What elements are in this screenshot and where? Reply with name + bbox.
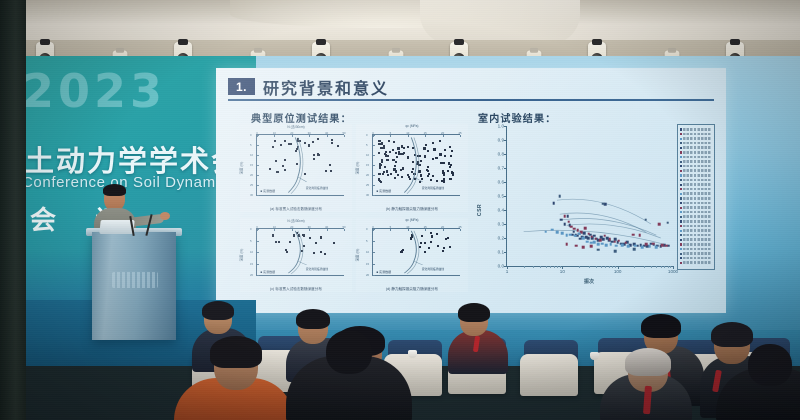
mini-chart-y-tick: 30: [366, 193, 369, 197]
csr-x-minor-tickmark: [524, 266, 525, 268]
mini-chart-x-tickmark: [344, 229, 345, 231]
csr-x-minor-tickmark: [670, 266, 671, 268]
mini-chart-y-axis-label: 深度 (m): [239, 162, 244, 175]
csr-y-tickmark: [504, 238, 507, 239]
csr-legend-label: [683, 234, 712, 237]
slide-title-rule: [228, 99, 714, 101]
csr-data-point: [563, 223, 566, 226]
csr-x-minor-tickmark: [596, 266, 597, 268]
csr-legend-label: [683, 257, 712, 260]
csr-x-minor-tickmark: [560, 266, 561, 268]
csr-data-point: [572, 230, 575, 233]
csr-legend-marker: [680, 225, 682, 227]
csr-x-minor-tickmark: [557, 266, 558, 268]
csr-legend-label: [683, 174, 712, 177]
csr-data-point: [601, 242, 604, 245]
mini-chart-legend: ■ 实测数据: [376, 189, 391, 193]
csr-legend-marker: [680, 170, 682, 172]
csr-data-point: [614, 250, 617, 253]
mini-chart-annotation: 液化判别临界曲线: [422, 186, 444, 190]
csr-legend-row: [680, 248, 713, 251]
csr-data-point: [608, 238, 611, 241]
csr-data-point: [629, 244, 632, 247]
mini-chart-y-tick: 15: [366, 163, 369, 167]
csr-legend-label: [683, 206, 712, 209]
audience-member-hair: [458, 303, 490, 322]
speaker-hair: [103, 184, 126, 196]
csr-legend-row: [680, 215, 713, 218]
csr-data-point: [594, 237, 597, 240]
csr-legend-row: [680, 211, 713, 214]
csr-legend-row: [680, 257, 713, 260]
csr-legend-row: [680, 128, 713, 131]
csr-legend-row: [680, 192, 713, 195]
mini-chart-y-tick: 20: [366, 273, 369, 277]
mini-chart-y-tick: 0: [366, 227, 368, 231]
csr-legend-marker: [680, 151, 682, 153]
projection-slide: 1. 研究背景和意义 典型原位测试结果： 室内试验结果： N (击/30cm)深…: [216, 68, 726, 313]
csr-data-point: [583, 232, 586, 235]
csr-legend-row: [680, 146, 713, 149]
csr-legend-marker: [680, 220, 682, 222]
mini-chart-y-tick: 5: [366, 143, 368, 147]
csr-data-point: [613, 240, 616, 243]
csr-data-point: [569, 233, 572, 236]
csr-x-minor-tickmark: [612, 266, 613, 268]
mini-chart-y-axis-label: 深度 (m): [239, 249, 244, 262]
csr-legend-row: [680, 243, 713, 246]
csr-y-tickmark: [504, 210, 507, 211]
mini-chart-top-axis-label: qc (MPa): [406, 124, 419, 128]
left-wall-column: [0, 0, 26, 420]
csr-legend-marker: [680, 257, 682, 259]
csr-data-point: [575, 244, 578, 247]
csr-data-point: [627, 245, 630, 248]
csr-legend-marker: [680, 142, 682, 144]
csr-data-point: [638, 234, 641, 237]
csr-legend-marker: [680, 193, 682, 195]
csr-legend-marker: [680, 188, 682, 190]
csr-data-point: [621, 244, 624, 247]
mini-chart-y-axis-label: 深度 (m): [355, 162, 360, 175]
mini-chart-x-tickmark: [460, 135, 461, 137]
conference-hall-screenshot: 2023 国土动力学学术会议 Conference on Soil Dynami…: [0, 0, 800, 420]
csr-legend-label: [683, 229, 712, 232]
mini-chart-y-tick: 15: [250, 163, 253, 167]
csr-x-minor-tickmark: [634, 266, 635, 268]
csr-legend-row: [680, 261, 713, 264]
mini-chart-top-axis-label: qc (MPa): [406, 218, 419, 222]
mini-chart-legend: ■ 实测数据: [260, 270, 275, 274]
csr-legend-marker: [680, 239, 682, 241]
csr-legend-row: [680, 197, 713, 200]
csr-x-tick-label: 100: [614, 269, 622, 274]
csr-legend-row: [680, 183, 713, 186]
csr-scatter-chart: CSR 振次 0.00.10.20.30.40.50.60.70.80.91.0…: [472, 120, 716, 300]
backdrop-year: 2023: [22, 64, 166, 118]
mini-chart-caption: (c) 标准贯入试验击数随深度分布: [270, 287, 322, 292]
csr-data-point: [566, 215, 569, 218]
csr-legend-label: [683, 248, 712, 251]
mini-chart-y-tick: 0: [250, 227, 252, 231]
mini-chart-y-tickmark: [373, 275, 375, 276]
csr-legend-row: [680, 156, 713, 159]
csr-data-point: [544, 230, 547, 233]
csr-x-minor-tickmark: [668, 266, 669, 268]
csr-legend-marker: [680, 234, 682, 236]
mini-chart-top-axis-label: N (击/30cm): [287, 218, 304, 223]
csr-y-tickmark: [504, 168, 507, 169]
csr-legend-marker: [680, 197, 682, 199]
csr-y-tickmark: [504, 154, 507, 155]
csr-x-minor-tickmark: [661, 266, 662, 268]
csr-data-point: [593, 241, 596, 244]
csr-data-point: [599, 239, 602, 242]
mini-chart-critical-curve: [257, 135, 344, 195]
csr-legend-label: [683, 211, 712, 214]
csr-legend-marker: [680, 202, 682, 204]
csr-legend-marker: [680, 138, 682, 140]
csr-data-point: [609, 243, 612, 246]
csr-legend-marker: [680, 174, 682, 176]
csr-x-minor-tickmark: [601, 266, 602, 268]
mini-chart-y-tickmark: [257, 275, 259, 276]
csr-data-point: [648, 245, 651, 248]
csr-legend-row: [680, 169, 713, 172]
csr-legend-label: [683, 225, 712, 228]
mini-chart-y-tick: 10: [366, 250, 369, 254]
csr-legend-row: [680, 151, 713, 154]
csr-legend-marker: [680, 184, 682, 186]
mini-chart-y-tick: 20: [366, 173, 369, 177]
csr-data-point: [590, 245, 593, 248]
csr-legend-marker: [680, 133, 682, 135]
csr-data-point: [573, 228, 576, 231]
csr-legend-label: [683, 238, 712, 241]
csr-legend-row: [680, 165, 713, 168]
mini-chart-y-tick: 10: [250, 250, 253, 254]
mini-chart-plot-area: 051015202505101520■ 实测数据液化判别临界曲线: [372, 228, 460, 276]
mini-chart-y-tick: 20: [250, 273, 253, 277]
mini-chart-critical-curve: [373, 229, 460, 275]
csr-legend-row: [680, 252, 713, 255]
csr-legend-marker: [680, 165, 682, 167]
csr-legend-row: [680, 202, 713, 205]
csr-data-point: [632, 233, 635, 236]
csr-legend-label: [683, 146, 712, 149]
csr-legend-marker: [680, 179, 682, 181]
csr-x-minor-tickmark: [644, 266, 645, 268]
csr-x-minor-tickmark: [615, 266, 616, 268]
audience-member-hair: [202, 301, 234, 320]
mini-chart: N (击/30cm)深度 (m)0102030405005101520■ 实测数…: [240, 218, 352, 292]
csr-legend-label: [683, 215, 712, 218]
mini-chart-y-tick: 5: [250, 143, 252, 147]
slide-title: 研究背景和意义: [263, 75, 389, 99]
csr-data-point: [582, 246, 585, 249]
mini-chart-y-tick: 20: [250, 173, 253, 177]
csr-data-point: [633, 248, 636, 251]
mini-chart-caption: (d) 静力触探锥尖阻力随深度分布: [386, 287, 438, 292]
csr-legend-label: [683, 261, 712, 264]
mini-chart-legend: ■ 实测数据: [260, 189, 275, 193]
csr-x-minor-tickmark: [540, 266, 541, 268]
csr-legend-row: [680, 234, 713, 237]
csr-legend-marker: [680, 207, 682, 209]
csr-legend-marker: [680, 161, 682, 163]
csr-legend-row: [680, 179, 713, 182]
csr-legend-label: [683, 220, 712, 223]
csr-legend-row: [680, 174, 713, 177]
mini-chart-y-tick: 25: [250, 183, 253, 187]
csr-legend-label: [683, 169, 712, 172]
csr-x-minor-tickmark: [589, 266, 590, 268]
csr-x-minor-tickmark: [533, 266, 534, 268]
csr-data-point: [665, 244, 668, 247]
csr-data-point: [602, 238, 605, 241]
csr-legend-label: [683, 151, 712, 154]
csr-legend-marker: [680, 211, 682, 213]
csr-x-minor-tickmark: [546, 266, 547, 268]
csr-y-axis-label: CSR: [477, 204, 483, 216]
csr-data-point: [615, 244, 618, 247]
mini-chart-caption: (a) 标准贯入试验击数随深度分布: [270, 207, 322, 212]
csr-data-point: [605, 244, 608, 247]
mini-chart: qc (MPa)深度 (m)051015202505101520■ 实测数据液化…: [356, 218, 468, 292]
mini-chart-y-tick: 10: [366, 153, 369, 157]
csr-legend-marker: [680, 128, 682, 130]
csr-legend-marker: [680, 230, 682, 232]
mini-chart-y-tick: 15: [250, 262, 253, 266]
csr-legend-label: [683, 243, 712, 246]
csr-data-point: [590, 242, 593, 245]
csr-data-point: [565, 243, 568, 246]
csr-x-minor-tickmark: [550, 266, 551, 268]
csr-data-point: [559, 195, 562, 198]
mini-chart-y-tick: 30: [250, 193, 253, 197]
csr-legend-label: [683, 197, 712, 200]
mini-chart-top-axis-label: N (击/30cm): [287, 124, 304, 129]
csr-data-point: [597, 243, 600, 246]
csr-data-point: [590, 235, 593, 238]
mini-chart-y-tick: 25: [366, 183, 369, 187]
csr-legend-label: [683, 183, 712, 186]
mini-chart-y-tick: 5: [250, 239, 252, 243]
csr-data-point: [602, 202, 605, 205]
audience-member-hair: [641, 314, 681, 338]
csr-x-tick-label: 1: [506, 269, 509, 274]
csr-data-point: [652, 242, 655, 245]
mini-chart-y-tick: 10: [250, 153, 253, 157]
mini-chart-y-tick: 0: [250, 133, 252, 137]
csr-data-point: [644, 219, 647, 222]
csr-data-point: [560, 219, 563, 222]
csr-y-tickmark: [504, 196, 507, 197]
csr-x-minor-tickmark: [554, 266, 555, 268]
csr-legend-marker: [680, 248, 682, 250]
csr-x-tickmark: [673, 266, 674, 269]
csr-data-point: [582, 237, 585, 240]
csr-data-point: [603, 235, 606, 238]
csr-legend-label: [683, 192, 712, 195]
mini-chart-legend: ■ 实测数据: [376, 270, 391, 274]
podium-logo: [112, 272, 158, 288]
mini-chart-annotation: 液化判别临界曲线: [306, 186, 328, 190]
csr-data-point: [576, 229, 579, 232]
mini-chart-x-tickmark: [344, 135, 345, 137]
csr-data-point: [661, 244, 664, 247]
slide-subheading-left: 典型原位测试结果：: [251, 110, 352, 125]
mini-chart-x-tickmark: [460, 229, 461, 231]
csr-x-minor-tickmark: [579, 266, 580, 268]
csr-data-point: [655, 246, 658, 249]
csr-legend-label: [683, 165, 712, 168]
mini-chart-y-tickmark: [373, 195, 375, 196]
csr-legend-row: [680, 220, 713, 223]
csr-legend-row: [680, 160, 713, 163]
csr-y-tickmark: [504, 140, 507, 141]
csr-data-point: [645, 243, 648, 246]
csr-data-point: [552, 202, 555, 205]
csr-x-minor-tickmark: [664, 266, 665, 268]
csr-x-minor-tickmark: [651, 266, 652, 268]
csr-data-point: [641, 246, 644, 249]
csr-legend-marker: [680, 243, 682, 245]
csr-data-point: [586, 240, 589, 243]
slide-section-badge: 1.: [228, 78, 255, 95]
csr-legend-label: [683, 128, 712, 131]
mini-chart: qc (MPa)深度 (m)0510152025051015202530■ 实测…: [356, 124, 468, 212]
csr-data-point: [565, 234, 568, 237]
mini-chart-critical-curve: [373, 135, 460, 195]
csr-x-tickmark: [562, 266, 563, 269]
mini-chart-y-tick: 5: [366, 239, 368, 243]
csr-data-point: [556, 231, 559, 234]
csr-legend-label: [683, 137, 712, 140]
csr-data-point: [597, 249, 600, 252]
csr-y-tickmark: [504, 224, 507, 225]
csr-legend-row: [680, 188, 713, 191]
csr-legend-row: [680, 137, 713, 140]
csr-data-point: [574, 235, 577, 238]
csr-data-point: [563, 215, 566, 218]
audience-shadow: [26, 336, 800, 420]
csr-x-minor-tickmark: [656, 266, 657, 268]
mini-chart-plot-area: 0510152025051015202530■ 实测数据液化判别临界曲线: [372, 134, 460, 196]
csr-y-tickmark: [504, 182, 507, 183]
csr-legend-label: [683, 156, 712, 159]
csr-plot-area: 0.00.10.20.30.40.50.60.70.80.91.01101001…: [506, 126, 673, 267]
csr-legend-label: [683, 188, 712, 191]
mini-chart-y-tick: 15: [366, 262, 369, 266]
csr-legend-box: [677, 124, 715, 270]
csr-data-point: [634, 244, 637, 247]
csr-data-point: [561, 232, 564, 235]
csr-legend-label: [683, 179, 712, 182]
csr-legend-label: [683, 252, 712, 255]
csr-data-point: [567, 221, 570, 224]
csr-legend-marker: [680, 216, 682, 218]
mini-chart-annotation: 液化判别临界曲线: [422, 267, 444, 271]
csr-legend-row: [680, 133, 713, 136]
mini-chart-critical-curve: [257, 229, 344, 275]
csr-data-point: [580, 231, 583, 234]
csr-legend-row: [680, 238, 713, 241]
csr-data-point: [551, 228, 554, 231]
csr-data-point: [624, 242, 627, 245]
mini-chart-plot-area: 0102030405005101520■ 实测数据液化判别临界曲线: [256, 228, 344, 276]
csr-legend-row: [680, 225, 713, 228]
csr-legend-row: [680, 229, 713, 232]
csr-legend-label: [683, 160, 712, 163]
csr-legend-label: [683, 142, 712, 145]
audience-member-hair: [296, 309, 330, 329]
mini-chart-y-axis-label: 深度 (m): [355, 249, 360, 262]
csr-legend-row: [680, 142, 713, 145]
csr-x-minor-tickmark: [605, 266, 606, 268]
mini-chart-plot-area: 01020304050051015202530■ 实测数据液化判别临界曲线: [256, 134, 344, 196]
csr-y-tickmark: [504, 252, 507, 253]
csr-x-tickmark: [507, 266, 508, 269]
mini-chart-caption: (b) 静力触探锥尖阻力随深度分布: [386, 207, 438, 212]
csr-data-point: [658, 223, 661, 226]
mini-chart-y-tickmark: [257, 195, 259, 196]
csr-legend-label: [683, 133, 712, 136]
csr-legend-row: [680, 206, 713, 209]
csr-x-axis-label: 振次: [584, 278, 594, 285]
csr-data-point: [578, 233, 581, 236]
csr-x-tick-label: 10: [560, 269, 565, 274]
mini-chart: N (击/30cm)深度 (m)01020304050051015202530■…: [240, 124, 352, 212]
speaker-hand: [160, 212, 170, 220]
csr-legend-marker: [680, 156, 682, 158]
ceiling-bulge-secondary: [420, 0, 580, 44]
csr-x-minor-tickmark: [609, 266, 610, 268]
csr-x-tickmark: [618, 266, 619, 269]
csr-data-point: [666, 221, 669, 224]
csr-legend-marker: [680, 253, 682, 255]
csr-legend-label: [683, 202, 712, 205]
csr-data-point: [618, 240, 621, 243]
csr-legend-marker: [680, 147, 682, 149]
mini-chart-y-tick: 0: [366, 133, 368, 137]
csr-legend-marker: [680, 262, 682, 264]
csr-y-tickmark: [504, 126, 507, 127]
csr-data-point: [584, 227, 587, 230]
mini-chart-annotation: 液化判别临界曲线: [306, 267, 328, 271]
csr-data-point: [587, 237, 590, 240]
